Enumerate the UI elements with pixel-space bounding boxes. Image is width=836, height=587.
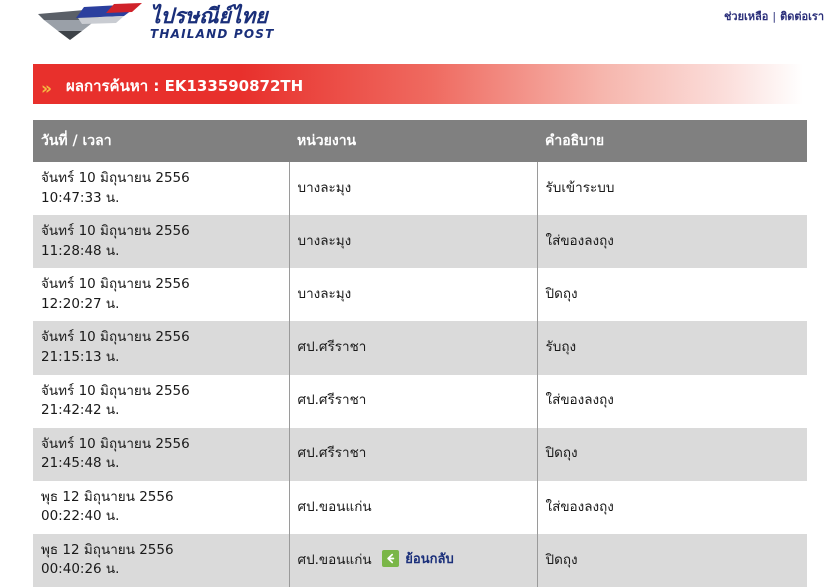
cell-date: จันทร์ 10 มิถุนายน 2556 (41, 169, 281, 189)
cell-office: บางละมุง (289, 268, 537, 321)
table-header-row: วันที่ / เวลา หน่วยงาน คำอธิบาย (33, 120, 807, 162)
thailand-post-logo[interactable]: ไปรษณีย์ไทย THAILAND POST (36, 2, 275, 42)
cell-description: ใส่ของลงถุง (537, 375, 807, 428)
cell-time: 10:47:33 น. (41, 189, 281, 209)
cell-datetime: จันทร์ 10 มิถุนายน 2556 21:45:48 น. (33, 428, 289, 481)
cell-datetime: จันทร์ 10 มิถุนายน 2556 12:20:27 น. (33, 268, 289, 321)
cell-date: จันทร์ 10 มิถุนายน 2556 (41, 382, 281, 402)
table-row: จันทร์ 10 มิถุนายน 2556 11:28:48 น. บางล… (33, 215, 807, 268)
cell-date: จันทร์ 10 มิถุนายน 2556 (41, 328, 281, 348)
arrow-left-icon (382, 550, 399, 567)
cell-time: 11:28:48 น. (41, 242, 281, 262)
column-header-date: วันที่ / เวลา (33, 120, 289, 162)
back-button[interactable]: ย้อนกลับ (382, 548, 453, 569)
cell-description: ใส่ของลงถุง (537, 481, 807, 534)
column-header-office: หน่วยงาน (289, 120, 537, 162)
cell-office: ศป.ศรีราชา (289, 428, 537, 481)
cell-time: 21:42:42 น. (41, 401, 281, 421)
cell-description: ใส่ของลงถุง (537, 215, 807, 268)
cell-office: ศป.ศรีราชา (289, 321, 537, 374)
table-row: จันทร์ 10 มิถุนายน 2556 21:42:42 น. ศป.ศ… (33, 375, 807, 428)
tracking-table: วันที่ / เวลา หน่วยงาน คำอธิบาย จันทร์ 1… (33, 120, 807, 587)
cell-date: จันทร์ 10 มิถุนายน 2556 (41, 275, 281, 295)
cell-date: จันทร์ 10 มิถุนายน 2556 (41, 222, 281, 242)
cell-datetime: พุธ 12 มิถุนายน 2556 00:22:40 น. (33, 481, 289, 534)
site-header: ไปรษณีย์ไทย THAILAND POST ช่วยเหลือ|ติดต… (0, 0, 836, 58)
cell-time: 21:15:13 น. (41, 348, 281, 368)
table-row: จันทร์ 10 มิถุนายน 2556 21:45:48 น. ศป.ศ… (33, 428, 807, 481)
tracking-table-container: วันที่ / เวลา หน่วยงาน คำอธิบาย จันทร์ 1… (33, 120, 807, 587)
cell-office: ศป.ขอนแก่น (289, 481, 537, 534)
cell-datetime: จันทร์ 10 มิถุนายน 2556 21:42:42 น. (33, 375, 289, 428)
cell-description: ปิดถุง (537, 428, 807, 481)
double-chevron-right-icon: » (41, 81, 50, 98)
table-row: จันทร์ 10 มิถุนายน 2556 12:20:27 น. บางล… (33, 268, 807, 321)
cell-datetime: จันทร์ 10 มิถุนายน 2556 10:47:33 น. (33, 162, 289, 215)
cell-time: 12:20:27 น. (41, 295, 281, 315)
cell-office: ศป.ศรีราชา (289, 375, 537, 428)
back-button-label: ย้อนกลับ (405, 548, 453, 569)
cell-datetime: จันทร์ 10 มิถุนายน 2556 21:15:13 น. (33, 321, 289, 374)
header-links: ช่วยเหลือ|ติดต่อเรา (724, 7, 824, 25)
help-link[interactable]: ช่วยเหลือ (724, 10, 768, 23)
footer: ย้อนกลับ (0, 548, 836, 569)
cell-datetime: จันทร์ 10 มิถุนายน 2556 11:28:48 น. (33, 215, 289, 268)
table-row: จันทร์ 10 มิถุนายน 2556 10:47:33 น. บางล… (33, 162, 807, 215)
table-header: วันที่ / เวลา หน่วยงาน คำอธิบาย (33, 120, 807, 162)
cell-office: บางละมุง (289, 162, 537, 215)
link-separator: | (772, 10, 776, 23)
cell-office: บางละมุง (289, 215, 537, 268)
search-result-banner: » ผลการค้นหา : EK133590872TH (33, 64, 803, 104)
table-body: จันทร์ 10 มิถุนายน 2556 10:47:33 น. บางล… (33, 162, 807, 587)
logo-wordmark: ไปรษณีย์ไทย THAILAND POST (150, 4, 275, 40)
logo-english-name: THAILAND POST (150, 28, 275, 40)
cell-description: ปิดถุง (537, 268, 807, 321)
contact-link[interactable]: ติดต่อเรา (780, 10, 824, 23)
cell-date: จันทร์ 10 มิถุนายน 2556 (41, 435, 281, 455)
column-header-description: คำอธิบาย (537, 120, 807, 162)
logo-thai-name: ไปรษณีย์ไทย (150, 6, 275, 27)
cell-description: รับถุง (537, 321, 807, 374)
cell-date: พุธ 12 มิถุนายน 2556 (41, 488, 281, 508)
cell-time: 21:45:48 น. (41, 454, 281, 474)
table-row: จันทร์ 10 มิถุนายน 2556 21:15:13 น. ศป.ศ… (33, 321, 807, 374)
cell-description: รับเข้าระบบ (537, 162, 807, 215)
cell-time: 00:22:40 น. (41, 507, 281, 527)
post-swoosh-icon (36, 2, 144, 42)
table-row: พุธ 12 มิถุนายน 2556 00:22:40 น. ศป.ขอนแ… (33, 481, 807, 534)
search-result-title: ผลการค้นหา : EK133590872TH (66, 74, 303, 98)
